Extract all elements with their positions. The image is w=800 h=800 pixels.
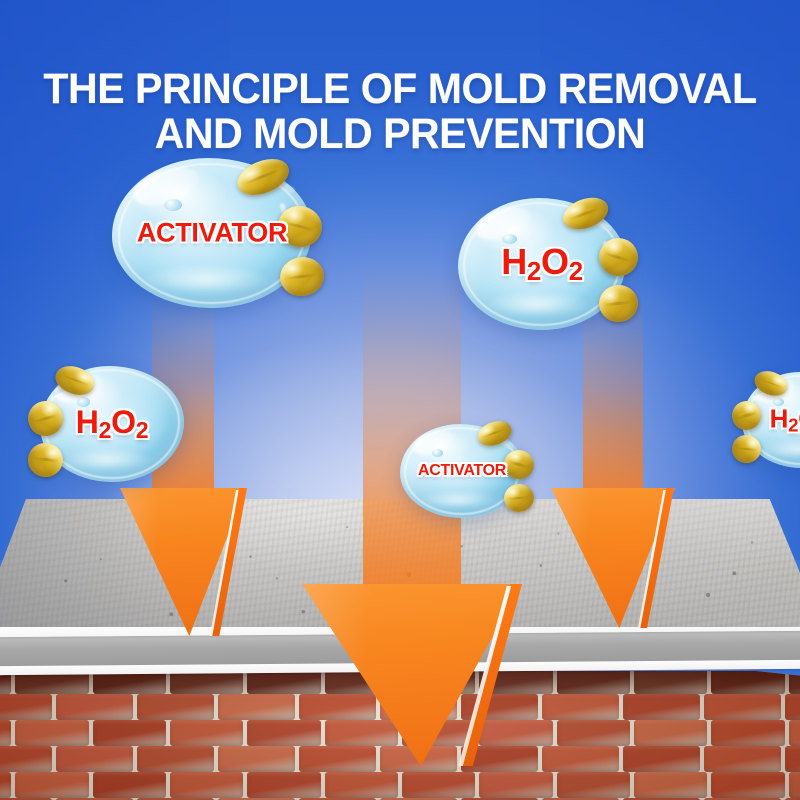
brick [218, 746, 295, 772]
brick [56, 746, 133, 772]
brick [789, 720, 800, 746]
brick [634, 772, 707, 798]
brick [557, 668, 630, 694]
brick [0, 720, 11, 746]
page-title: THE PRINCIPLE OF MOLD REMOVAL AND MOLD P… [18, 67, 782, 156]
bubble-h2o2-1: H2O2 [458, 198, 626, 330]
bubble-specular-dot [77, 397, 90, 406]
brick [0, 772, 11, 798]
infographic-canvas: THE PRINCIPLE OF MOLD REMOVAL AND MOLD P… [0, 0, 800, 800]
brick [325, 772, 398, 798]
bubble-h2o2-2: H2O2 [40, 366, 184, 482]
brick [137, 746, 214, 772]
brick [542, 746, 619, 772]
bubble-specular-dot [502, 234, 517, 245]
brick [402, 772, 475, 798]
brick [704, 694, 781, 720]
brick [557, 720, 630, 746]
brick [479, 772, 552, 798]
brick [623, 694, 700, 720]
bubble-activator-2: ACTIVATOR [400, 424, 524, 518]
bubble-specular-dot [773, 398, 784, 406]
bubble-activator-1: ACTIVATOR [112, 158, 312, 308]
brick [0, 746, 52, 772]
brick [137, 694, 214, 720]
brick [711, 772, 784, 798]
penetration-arrow-right [548, 292, 678, 632]
brick [634, 668, 707, 694]
brick [170, 720, 243, 746]
brick [93, 772, 166, 798]
brick [704, 746, 781, 772]
brick [15, 720, 88, 746]
bubble-underglow [140, 263, 272, 296]
brick [634, 720, 707, 746]
bubble-underglow [60, 447, 155, 473]
bubble-specular-dot [164, 199, 182, 211]
brick [623, 746, 700, 772]
bubble-h2o2-3: H2O2 [742, 372, 800, 468]
brick [93, 720, 166, 746]
brick [15, 772, 88, 798]
brick [542, 694, 619, 720]
brick [557, 772, 630, 798]
brick-row [0, 772, 800, 798]
brick [711, 720, 784, 746]
brick [789, 772, 800, 798]
brick [56, 694, 133, 720]
brick [0, 694, 52, 720]
brick [218, 694, 295, 720]
brick [785, 746, 800, 772]
brick [170, 772, 243, 798]
brick [247, 772, 320, 798]
brick [785, 694, 800, 720]
